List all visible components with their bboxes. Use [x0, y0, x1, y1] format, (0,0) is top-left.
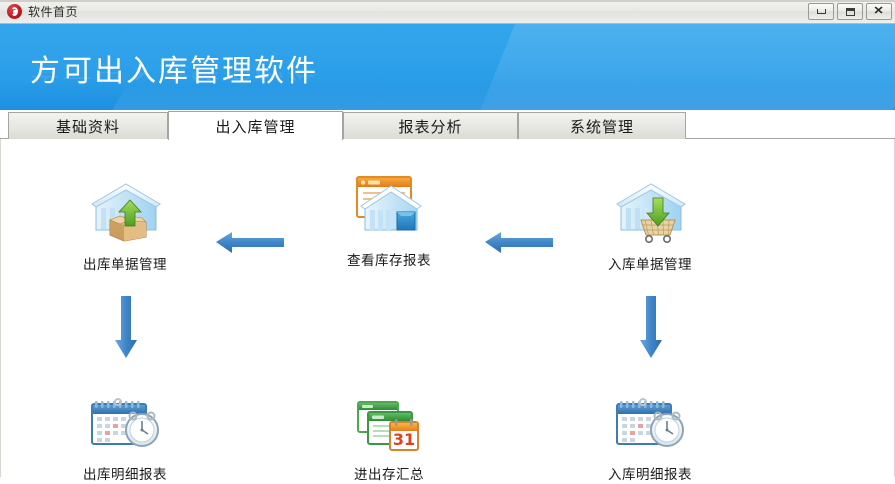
calendar-clock-svg [611, 394, 689, 454]
tile-inbound-detail-report[interactable]: 入库明细报表 [575, 390, 725, 483]
app-banner: 方可出入库管理软件 方可出入库管理软件 [0, 24, 895, 111]
arrow-down-icon [112, 294, 140, 360]
tile-outbound-documents[interactable]: 出库单据管理 [50, 180, 200, 273]
tab-system-management[interactable]: 系统管理 [518, 112, 686, 139]
tile-inout-summary-label: 进出存汇总 [314, 463, 464, 483]
minimize-icon [817, 9, 826, 14]
tab-report-analysis[interactable]: 报表分析 [343, 112, 518, 139]
warehouse-outbound-box-icon [50, 180, 200, 244]
calendar-clock-icon [575, 390, 725, 454]
tile-inbound-detail-report-label: 入库明细报表 [575, 463, 725, 483]
titlebar-top-edge [0, 0, 895, 2]
home-content-panel: 出库单据管理 [0, 139, 895, 477]
tab-bar: 基础资料 出入库管理 报表分析 系统管理 [0, 111, 895, 139]
warehouse-inbound-cart-icon [575, 180, 725, 244]
green-windows-calendar-icon: 31 [314, 390, 464, 454]
tab-inout-management[interactable]: 出入库管理 [168, 111, 343, 140]
window-controls: ✕ [808, 3, 892, 20]
window-title: 软件首页 [28, 3, 78, 20]
tile-inbound-documents-label: 入库单据管理 [575, 253, 725, 273]
tab-inout-management-label: 出入库管理 [215, 116, 295, 137]
arrow-left-inbound-to-stock [485, 229, 555, 260]
app-target-icon [7, 4, 22, 19]
close-icon: ✕ [874, 6, 885, 17]
warehouse-report-window-svg [349, 172, 429, 240]
tab-basic-data-label: 基础资料 [56, 116, 120, 137]
warehouse-outbound-box-svg [86, 180, 164, 244]
arrow-down-outbound-to-detail [112, 294, 140, 365]
arrow-down-inbound-to-detail [637, 294, 665, 365]
calendar-clock-svg [86, 394, 164, 454]
arrow-down-icon [637, 294, 665, 360]
active-tab-underline-gap [169, 137, 342, 139]
tile-outbound-documents-label: 出库单据管理 [50, 253, 200, 273]
arrow-left-icon [216, 229, 286, 255]
warehouse-report-window-icon [314, 176, 464, 240]
tile-view-stock-report[interactable]: 查看库存报表 [314, 176, 464, 269]
tab-basic-data[interactable]: 基础资料 [8, 112, 168, 139]
app-banner-title: 方可出入库管理软件 [30, 46, 318, 90]
tile-inbound-documents[interactable]: 入库单据管理 [575, 180, 725, 273]
tile-inout-summary[interactable]: 31 进出存汇总 [314, 390, 464, 483]
warehouse-inbound-cart-svg [611, 180, 689, 244]
tile-outbound-detail-report-label: 出库明细报表 [50, 463, 200, 483]
arrow-left-stock-to-outbound [216, 229, 286, 260]
tile-outbound-detail-report[interactable]: 出库明细报表 [50, 390, 200, 483]
green-windows-calendar-svg: 31 [350, 394, 428, 454]
arrow-left-icon [485, 229, 555, 255]
tile-view-stock-report-label: 查看库存报表 [314, 249, 464, 269]
minimize-button[interactable] [808, 3, 834, 20]
tab-report-analysis-label: 报表分析 [398, 116, 462, 137]
tab-system-management-label: 系统管理 [570, 116, 634, 137]
close-button[interactable]: ✕ [866, 3, 892, 20]
calendar-day-number: 31 [393, 430, 415, 449]
window-titlebar: 软件首页 ✕ [0, 0, 895, 24]
maximize-icon [846, 8, 855, 16]
maximize-button[interactable] [837, 3, 863, 20]
calendar-clock-icon [50, 390, 200, 454]
